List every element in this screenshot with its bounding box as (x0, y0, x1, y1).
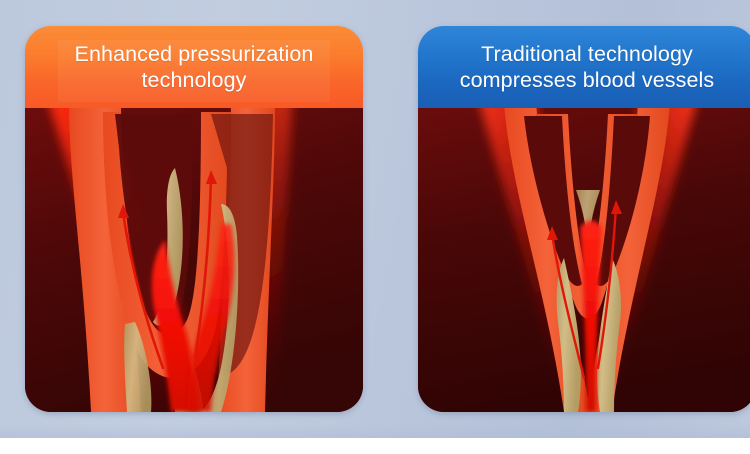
panel-title-traditional: Traditional technology compresses blood … (460, 41, 715, 93)
artwork-enhanced-vessel (25, 108, 363, 412)
panel-header-enhanced: Enhanced pressurization technology (25, 26, 363, 108)
panel-enhanced-pressurization[interactable]: Enhanced pressurization technology (25, 26, 363, 412)
comparison-figure: Enhanced pressurization technology (0, 0, 750, 454)
panel-traditional-technology[interactable]: Traditional technology compresses blood … (418, 26, 750, 412)
vessel-illustration-enhanced (25, 108, 363, 412)
vessel-illustration-traditional (418, 108, 750, 412)
artwork-traditional-vessel (418, 108, 750, 412)
panel-header-traditional: Traditional technology compresses blood … (418, 26, 750, 108)
panel-title-enhanced: Enhanced pressurization technology (75, 41, 314, 93)
